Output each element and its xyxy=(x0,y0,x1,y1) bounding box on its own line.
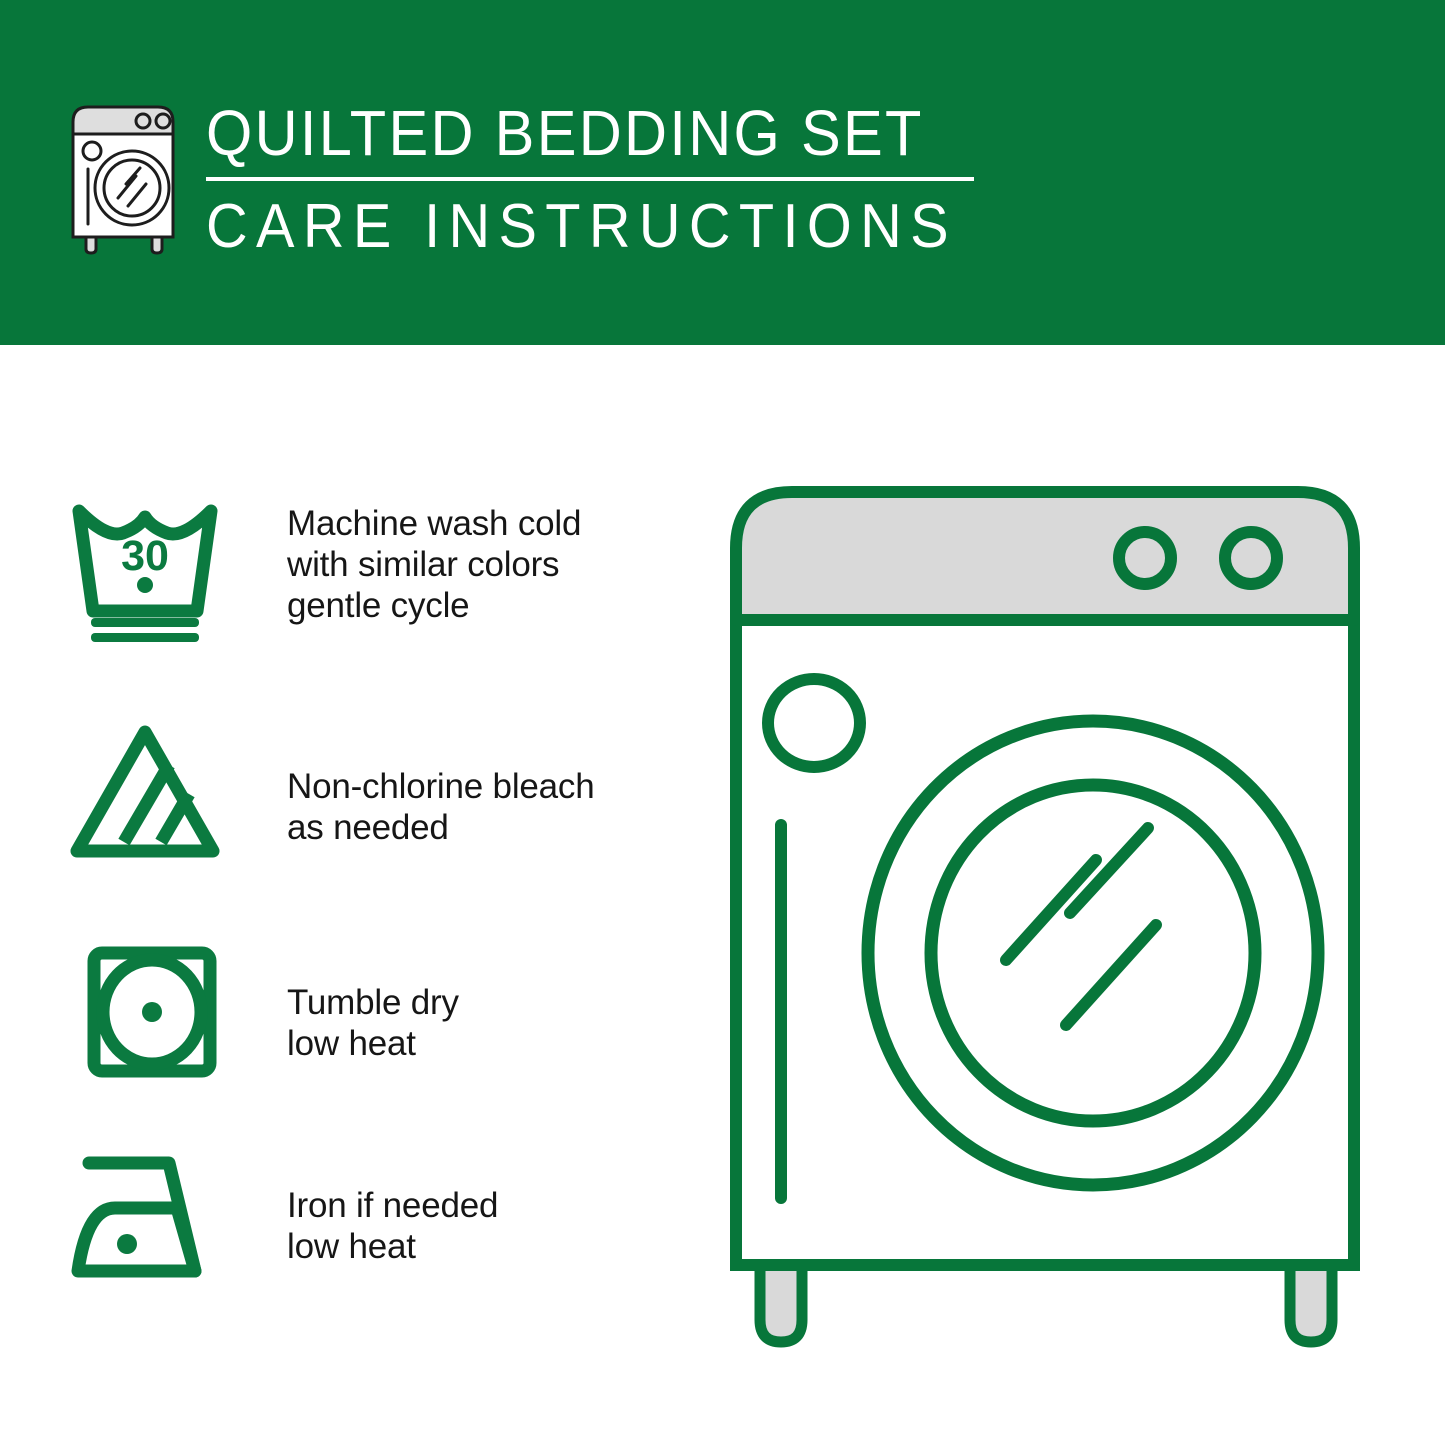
washing-machine-illustration xyxy=(718,470,1418,1360)
care-label-line: Tumble dry xyxy=(287,982,459,1023)
wash-tub-30-gentle-icon: 30 xyxy=(65,495,225,645)
header-text-block: QUILTED BEDDING SET CARE INSTRUCTIONS xyxy=(206,96,1106,263)
care-label-line: Iron if needed xyxy=(287,1185,498,1226)
bleach-triangle-non-chlorine-icon xyxy=(65,720,225,865)
knob-right xyxy=(1225,532,1277,584)
washing-machine-logo-icon xyxy=(64,100,188,255)
care-label-line: Non-chlorine bleach xyxy=(287,766,595,807)
care-instructions-page: QUILTED BEDDING SET CARE INSTRUCTIONS 30 xyxy=(0,0,1445,1445)
care-row-tumble-dry: Tumble dry low heat xyxy=(0,940,700,1085)
care-label-line: gentle cycle xyxy=(287,585,581,626)
page-title: QUILTED BEDDING SET xyxy=(206,96,1043,170)
care-label-line: low heat xyxy=(287,1226,498,1267)
care-row-iron: Iron if needed low heat xyxy=(0,1145,700,1290)
care-label-line: as needed xyxy=(287,807,595,848)
care-label-machine-wash: Machine wash cold with similar colors ge… xyxy=(287,495,581,626)
tumble-dry-low-heat-icon xyxy=(65,940,225,1085)
leg-right xyxy=(1290,1260,1332,1342)
header-divider xyxy=(206,177,974,181)
header-band: QUILTED BEDDING SET CARE INSTRUCTIONS xyxy=(0,0,1445,345)
machine-body xyxy=(736,620,1354,1265)
leg-left xyxy=(760,1260,802,1342)
care-label-line: Machine wash cold xyxy=(287,503,581,544)
care-instruction-list: 30 Machine wash cold with similar colors… xyxy=(0,345,700,1445)
page-subtitle: CARE INSTRUCTIONS xyxy=(206,191,1043,263)
care-label-iron: Iron if needed low heat xyxy=(287,1145,498,1267)
knob-left xyxy=(1119,532,1171,584)
care-label-tumble-dry: Tumble dry low heat xyxy=(287,940,459,1064)
iron-low-heat-icon xyxy=(65,1145,225,1290)
care-label-line: with similar colors xyxy=(287,544,581,585)
wash-temperature-value: 30 xyxy=(121,532,169,580)
care-row-machine-wash: 30 Machine wash cold with similar colors… xyxy=(0,495,700,645)
care-row-bleach: Non-chlorine bleach as needed xyxy=(0,720,700,865)
care-label-bleach: Non-chlorine bleach as needed xyxy=(287,720,595,848)
care-label-line: low heat xyxy=(287,1023,459,1064)
